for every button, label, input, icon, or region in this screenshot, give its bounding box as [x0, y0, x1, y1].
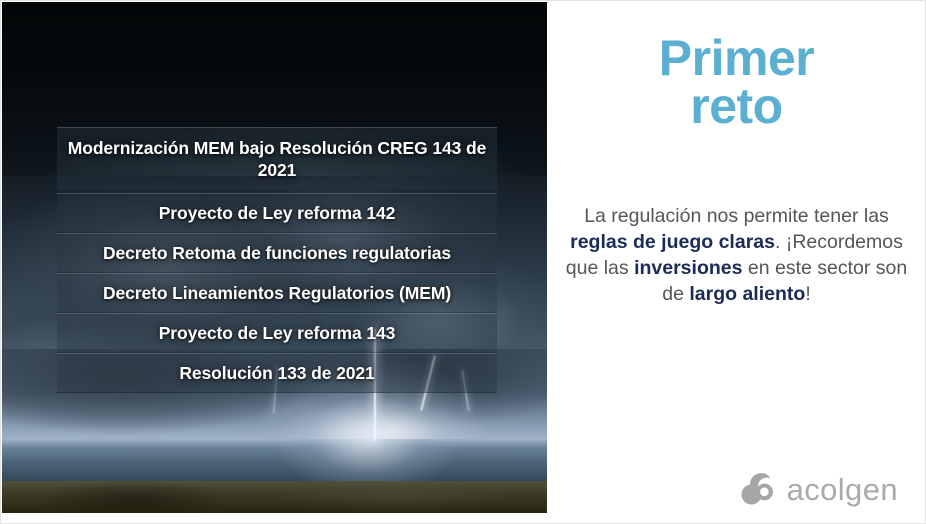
- body-emphasis-2: inversiones: [634, 257, 742, 279]
- regulation-item-list: Modernización MEM bajo Resolución CREG 1…: [57, 127, 497, 393]
- list-item: Decreto Lineamientos Regulatorios (MEM): [57, 273, 497, 313]
- title-line-2: reto: [547, 82, 926, 130]
- page-title: Primer reto: [547, 2, 926, 130]
- presentation-slide: Modernización MEM bajo Resolución CREG 1…: [0, 0, 926, 524]
- text-content-panel: Primer reto La regulación nos permite te…: [547, 2, 926, 524]
- list-item: Proyecto de Ley reforma 143: [57, 313, 497, 353]
- acolgen-logo-icon: [740, 472, 778, 506]
- body-text-part-1: La regulación nos permite tener las: [584, 205, 889, 227]
- body-paragraph: La regulación nos permite tener las regl…: [547, 130, 926, 308]
- body-emphasis-1: reglas de juego claras: [570, 231, 775, 253]
- list-item: Modernización MEM bajo Resolución CREG 1…: [57, 127, 497, 191]
- body-text-part-4: !: [805, 283, 810, 305]
- acolgen-logo: acolgen: [740, 472, 898, 506]
- list-item: Decreto Retoma de funciones regulatorias: [57, 233, 497, 273]
- acolgen-wordmark: acolgen: [787, 474, 898, 505]
- body-emphasis-3: largo aliento: [689, 283, 805, 305]
- list-item: Proyecto de Ley reforma 142: [57, 193, 497, 233]
- shoreline-layer: [2, 481, 547, 513]
- sea-layer: [2, 439, 547, 488]
- list-item: Resolución 133 de 2021: [57, 353, 497, 393]
